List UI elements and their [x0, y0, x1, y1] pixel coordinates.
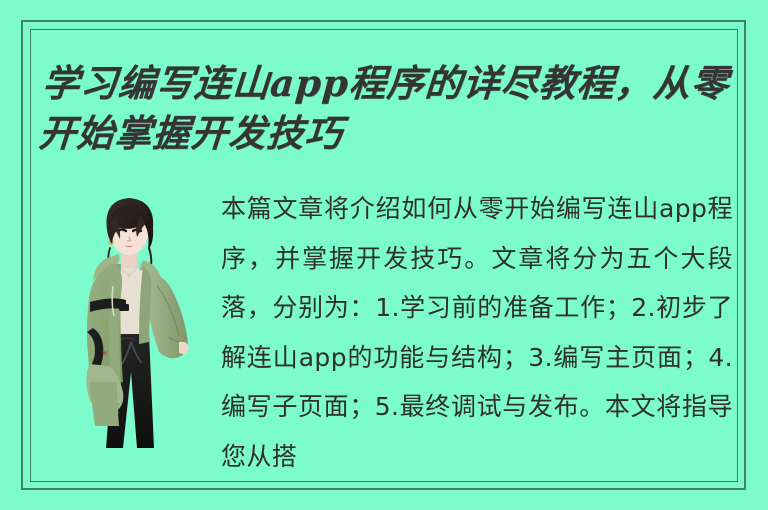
illustration-figure — [57, 186, 202, 456]
article-body-text: 本篇文章将介绍如何从零开始编写连山app程序，并掌握开发技巧。文章将分为五个大段… — [221, 184, 733, 484]
woman-illustration-icon — [57, 186, 202, 456]
article-cover-card: 学习编写连山app程序的详尽教程，从零开始掌握开发技巧 — [0, 0, 768, 510]
article-title: 学习编写连山app程序的详尽教程，从零开始掌握开发技巧 — [37, 58, 740, 158]
